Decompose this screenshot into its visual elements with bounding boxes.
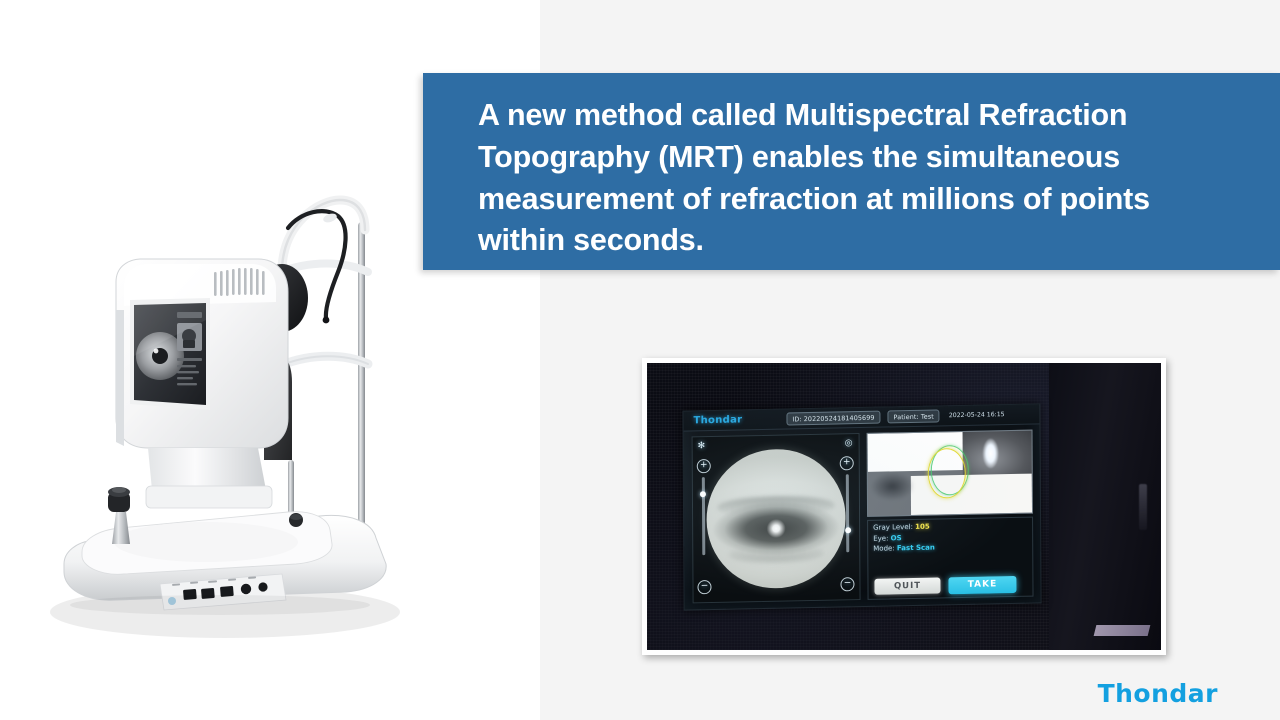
focus-increase-button[interactable]: + (840, 456, 854, 470)
machine-side-panel (1049, 363, 1161, 650)
machine-bottom-strip (1094, 625, 1151, 636)
gray-level-row: Gray Level: 105 (873, 521, 1027, 532)
patient-name-field[interactable]: Patient: Test (888, 409, 940, 423)
lower-eyelid-shadow (729, 545, 824, 564)
focus-icon[interactable]: ◎ (845, 438, 853, 448)
focus-slider-track[interactable] (846, 474, 849, 552)
callout-banner: A new method called Multispectral Refrac… (423, 73, 1280, 270)
mode-value: Fast Scan (897, 544, 935, 553)
brightness-increase-button[interactable]: + (697, 459, 711, 473)
focus-decrease-button[interactable]: − (840, 577, 854, 591)
datetime-label: 2022-05-24 16:15 (949, 411, 1005, 419)
cam-light-flare (982, 438, 998, 468)
eye-label: Eye: (873, 534, 888, 542)
brightness-icon[interactable]: ✻ (698, 441, 706, 451)
device-svg (20, 160, 440, 660)
eye-image (706, 447, 846, 589)
gray-level-value: 105 (915, 523, 930, 531)
focus-slider-knob[interactable] (845, 527, 851, 533)
eye-preview-panel: ✻ ◎ + − + − (692, 433, 861, 603)
take-button[interactable]: TAKE (948, 575, 1016, 593)
gray-level-label: Gray Level: (873, 523, 913, 532)
quit-button[interactable]: QUIT (874, 577, 940, 594)
mode-row: Mode: Fast Scan (873, 542, 1027, 553)
lcd-button-row: QUIT TAKE (874, 575, 1029, 596)
brightness-slider-track[interactable] (702, 477, 705, 555)
patient-id-field[interactable]: ID: 20220524181405699 (786, 411, 880, 426)
cam-shadow-region (871, 472, 914, 501)
alignment-camera-preview (867, 430, 1033, 517)
lcd-top-bar: Thondar ID: 20220524181405699 Patient: T… (683, 404, 1039, 431)
refractor-device-illustration (20, 160, 440, 660)
device-screen-photo: Thondar ID: 20220524181405699 Patient: T… (642, 358, 1166, 655)
slide-root: A new method called Multispectral Refrac… (0, 0, 1280, 720)
lcd-screen: Thondar ID: 20220524181405699 Patient: T… (682, 403, 1041, 610)
eyelid-shadow (718, 495, 835, 517)
callout-text: A new method called Multispectral Refrac… (478, 95, 1240, 262)
eye-row: Eye: OS (873, 531, 1027, 542)
photo-inner: Thondar ID: 20220524181405699 Patient: T… (647, 363, 1161, 650)
brightness-slider-knob[interactable] (700, 491, 706, 497)
brand-logo: Thondar (1098, 679, 1218, 708)
eye-value: OS (891, 534, 902, 542)
lcd-logo: Thondar (693, 414, 742, 426)
brightness-decrease-button[interactable]: − (697, 580, 711, 594)
mode-label: Mode: (873, 544, 894, 552)
